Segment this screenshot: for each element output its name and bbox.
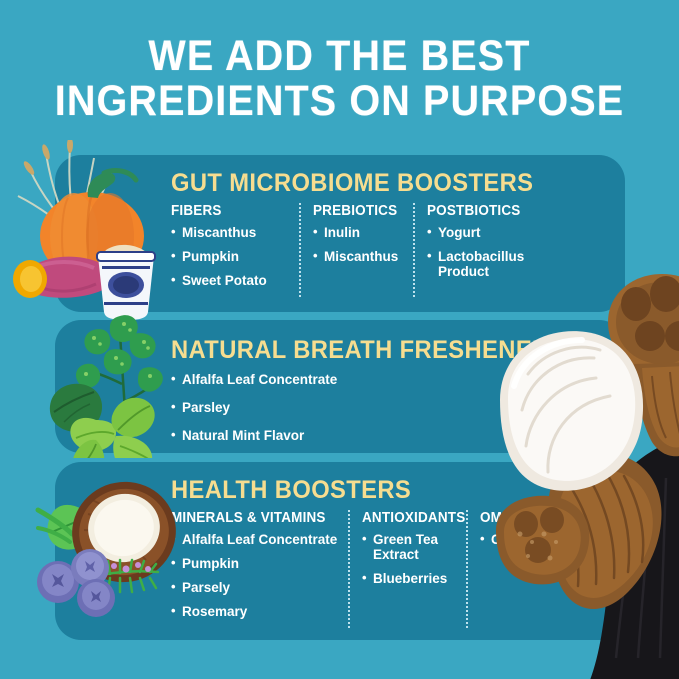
list-item: Sweet Potato — [171, 273, 289, 288]
panel-gut-microbiome-boosters: GUT MICROBIOME BOOSTERS FIBERS Miscanthu… — [55, 155, 625, 312]
list-item: Pumpkin — [171, 556, 338, 571]
column-title: PREBIOTICS — [313, 203, 397, 219]
ingredient-list: Coconut Oil — [480, 532, 616, 547]
panel-health-boosters: HEALTH BOOSTERS MINERALS & VITAMINS Alfa… — [55, 462, 625, 640]
list-item: Alfalfa Leaf Concentrate — [171, 532, 338, 547]
list-item: Blueberries — [362, 571, 456, 586]
page-title: WE ADD THE BEST INGREDIENTS ON PURPOSE — [0, 34, 679, 124]
list-item: Natural Mint Flavor — [171, 428, 337, 443]
panel-heading: NATURAL BREATH FRESHENERS — [171, 336, 566, 365]
column-title: ANTIOXIDANTS — [362, 510, 449, 526]
panel-columns: FIBERS Miscanthus Pumpkin Sweet Potato P… — [171, 203, 531, 297]
list-item: Yogurt — [427, 225, 531, 240]
column-minerals-and-vitamins: MINERALS & VITAMINS Alfalfa Leaf Concent… — [171, 510, 338, 628]
panel-columns: MINERALS & VITAMINS Alfalfa Leaf Concent… — [171, 510, 616, 628]
list-item: Inulin — [313, 225, 403, 240]
list-item: Parsley — [171, 400, 337, 415]
column-prebiotics: PREBIOTICS Inulin Miscanthus — [299, 203, 403, 297]
ingredient-list: Alfalfa Leaf Concentrate Pumpkin Parsely… — [171, 532, 338, 619]
list-item: Rosemary — [171, 604, 338, 619]
list-item: Miscanthus — [171, 225, 289, 240]
column-title: MINERALS & VITAMINS — [171, 510, 326, 526]
ingredient-list: Green Tea Extract Blueberries — [362, 532, 456, 586]
column-fibers: FIBERS Miscanthus Pumpkin Sweet Potato — [171, 203, 289, 297]
list-item: Miscanthus — [313, 249, 403, 264]
column-title: OMEGA FATTY ACIDS — [480, 510, 606, 526]
list-item: Coconut Oil — [480, 532, 616, 547]
panel-columns: Alfalfa Leaf Concentrate Parsley Natural… — [171, 372, 337, 456]
panel-heading: HEALTH BOOSTERS — [171, 476, 411, 505]
column-omega-fatty-acids: OMEGA FATTY ACIDS Coconut Oil — [466, 510, 616, 628]
panel-natural-breath-fresheners: NATURAL BREATH FRESHENERS Alfalfa Leaf C… — [55, 320, 625, 453]
column-title: POSTBIOTICS — [427, 203, 524, 219]
list-item: Alfalfa Leaf Concentrate — [171, 372, 337, 387]
list-item: Green Tea Extract — [362, 532, 456, 562]
ingredient-list: Inulin Miscanthus — [313, 225, 403, 264]
column-breath-fresheners: Alfalfa Leaf Concentrate Parsley Natural… — [171, 372, 337, 456]
list-item: Pumpkin — [171, 249, 289, 264]
ingredient-list: Alfalfa Leaf Concentrate Parsley Natural… — [171, 372, 337, 443]
column-title: FIBERS — [171, 203, 281, 219]
column-postbiotics: POSTBIOTICS Yogurt Lactobacillus Product — [413, 203, 531, 297]
page-title-line-1: WE ADD THE BEST — [27, 34, 652, 79]
panel-heading: GUT MICROBIOME BOOSTERS — [171, 169, 533, 198]
ingredient-list: Yogurt Lactobacillus Product — [427, 225, 531, 279]
ingredient-list: Miscanthus Pumpkin Sweet Potato — [171, 225, 289, 288]
page-title-line-2: INGREDIENTS ON PURPOSE — [27, 79, 652, 124]
list-item: Lactobacillus Product — [427, 249, 531, 279]
column-antioxidants: ANTIOXIDANTS Green Tea Extract Blueberri… — [348, 510, 456, 628]
list-item: Parsely — [171, 580, 338, 595]
